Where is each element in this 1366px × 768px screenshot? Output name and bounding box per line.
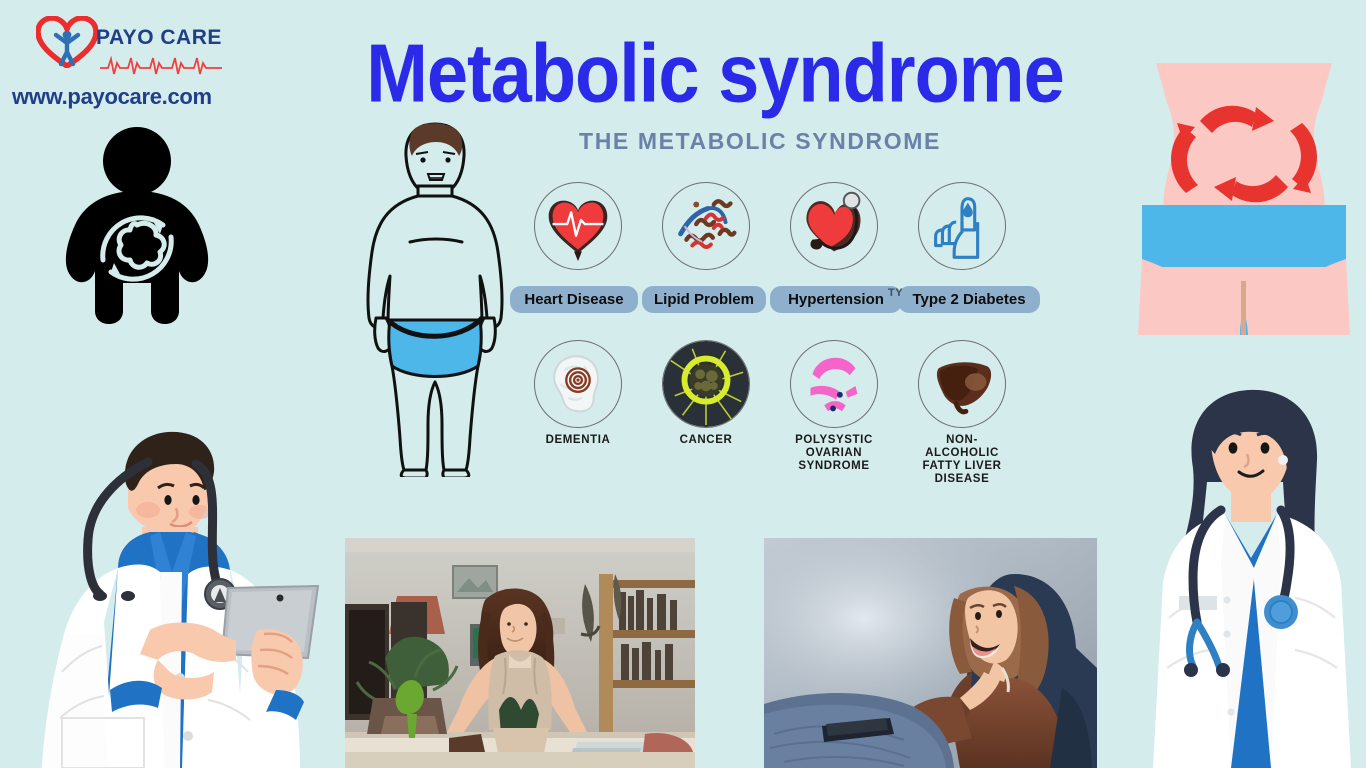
condition-heart-disease[interactable] xyxy=(528,182,628,270)
head-target-icon xyxy=(534,340,622,428)
brand-logo: PAYO CARE www.payocare.com xyxy=(8,10,238,110)
label-nafld: NON-ALCOHOLIC FATTY LIVER DISEASE xyxy=(912,434,1012,486)
brand-website: www.payocare.com xyxy=(12,84,212,110)
ghost-label-fragment: TY xyxy=(888,287,903,299)
obese-person-glyph-icon xyxy=(45,125,230,330)
heart-sphygmomanometer-icon xyxy=(790,182,878,270)
label-heart-disease[interactable]: Heart Disease xyxy=(510,286,638,313)
heart-person-logo-icon xyxy=(36,16,98,68)
condition-cancer[interactable]: CANCER xyxy=(656,340,756,447)
condition-hypertension[interactable] xyxy=(784,182,884,270)
male-doctor-with-tablet-figure xyxy=(0,372,330,768)
abdomen-metabolism-figure-icon xyxy=(1128,45,1360,335)
brand-name: PAYO CARE xyxy=(96,26,222,50)
label-hypertension[interactable]: Hypertension xyxy=(770,286,902,313)
condition-lipid-problem[interactable] xyxy=(656,182,756,270)
liver-icon xyxy=(918,340,1006,428)
condition-dementia[interactable]: DEMENTIA xyxy=(528,340,628,447)
label-type-2-diabetes[interactable]: Type 2 Diabetes xyxy=(898,286,1040,313)
label-cancer: CANCER xyxy=(656,434,756,447)
ecg-line-icon xyxy=(100,52,222,78)
label-dementia: DEMENTIA xyxy=(528,434,628,447)
condition-nafld[interactable]: NON-ALCOHOLIC FATTY LIVER DISEASE xyxy=(912,340,1012,486)
ovary-icon xyxy=(790,340,878,428)
photo-woman-sofa xyxy=(764,538,1097,768)
overweight-man-figure-icon xyxy=(352,112,518,477)
tumor-cell-icon xyxy=(662,340,750,428)
condition-pcos[interactable]: POLYSYSTIC OVARIAN SYNDROME xyxy=(784,340,884,473)
infographic-canvas: PAYO CARE www.payocare.com Metabolic syn… xyxy=(0,0,1366,768)
lipoprotein-icon xyxy=(662,182,750,270)
label-pcos: POLYSYSTIC OVARIAN SYNDROME xyxy=(784,434,884,473)
female-doctor-figure xyxy=(1135,382,1366,768)
conditions-grid: Heart Disease Lipid Problem Hypertension… xyxy=(508,182,1068,482)
photo-woman-plants xyxy=(345,538,695,768)
page-title: Metabolic syndrome xyxy=(275,32,1155,115)
finger-blood-drop-icon xyxy=(918,182,1006,270)
heart-ecg-icon xyxy=(534,182,622,270)
condition-type-2-diabetes[interactable] xyxy=(912,182,1012,270)
label-lipid-problem[interactable]: Lipid Problem xyxy=(642,286,766,313)
